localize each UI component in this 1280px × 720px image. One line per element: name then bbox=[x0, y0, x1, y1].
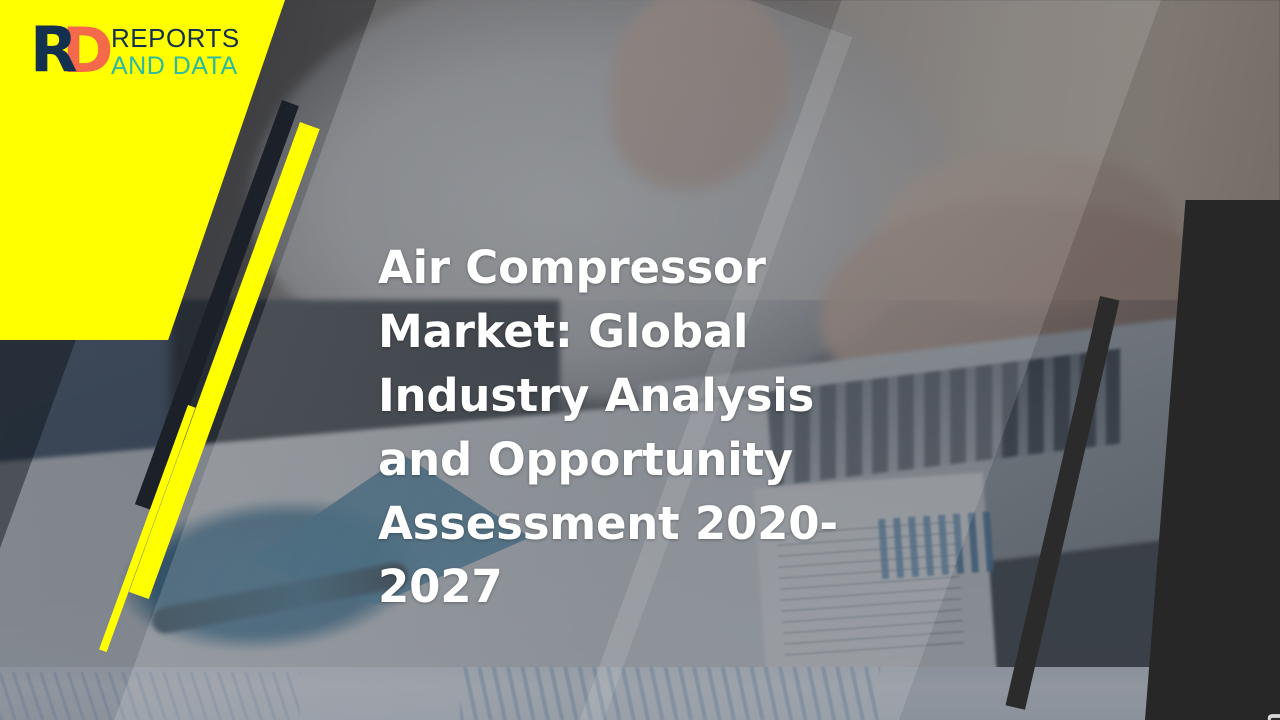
logo-wordmark-line2: AND DATA bbox=[111, 54, 240, 79]
logo-letter-r: R bbox=[30, 22, 76, 78]
brand-logo[interactable]: D R REPORTS AND DATA bbox=[30, 22, 240, 80]
website-url-container: www.reportsanddata.com bbox=[1220, 290, 1280, 720]
logo-monogram-icon: D R bbox=[30, 22, 102, 80]
logo-wordmark-line1: REPORTS bbox=[111, 25, 240, 51]
report-cover-slide: D R REPORTS AND DATA Air Compressor Mark… bbox=[0, 0, 1280, 720]
page-title: Air Compressor Market: Global Industry A… bbox=[378, 236, 858, 619]
website-url[interactable]: www.reportsanddata.com bbox=[1261, 712, 1280, 720]
logo-wordmark: REPORTS AND DATA bbox=[111, 25, 240, 79]
